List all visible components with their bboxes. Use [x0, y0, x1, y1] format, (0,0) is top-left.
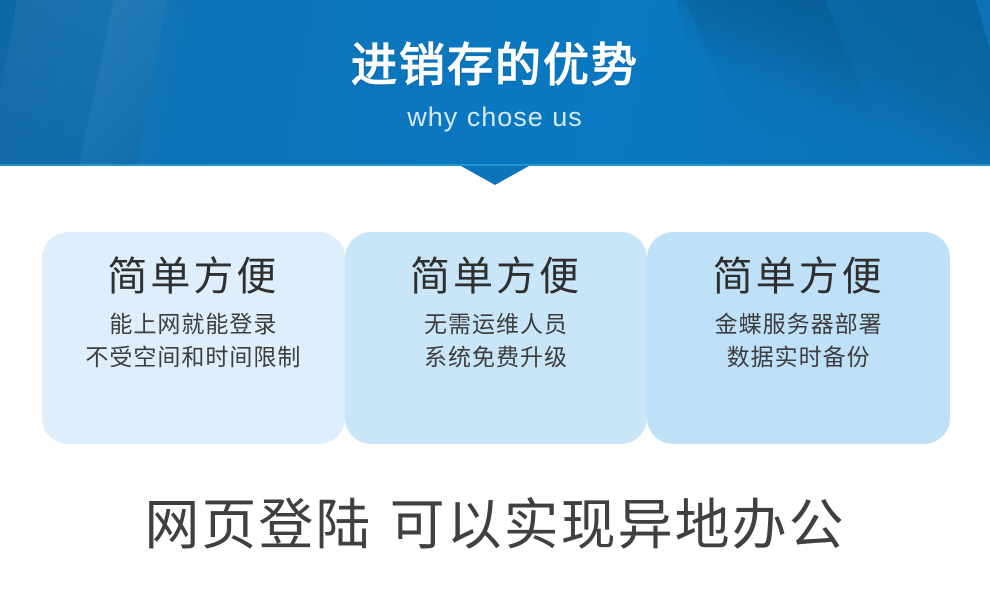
feature-card-2-body: 无需运维人员 系统免费升级 [424, 308, 568, 373]
feature-card-1: 简单方便 能上网就能登录 不受空间和时间限制 [42, 232, 345, 444]
feature-card-3-line2: 数据实时备份 [715, 341, 883, 374]
feature-card-3-title: 简单方便 [713, 254, 885, 300]
feature-card-1-line2: 不受空间和时间限制 [85, 341, 301, 374]
feature-card-2-title: 简单方便 [410, 254, 582, 300]
feature-card-2-line2: 系统免费升级 [424, 341, 568, 374]
feature-card-3-body: 金蝶服务器部署 数据实时备份 [715, 308, 883, 373]
feature-card-3-line1: 金蝶服务器部署 [715, 308, 883, 341]
feature-card-1-body: 能上网就能登录 不受空间和时间限制 [85, 308, 301, 373]
feature-card-1-title: 简单方便 [107, 254, 279, 300]
hero-title: 进销存的优势 [351, 42, 639, 88]
feature-card-3: 简单方便 金蝶服务器部署 数据实时备份 [647, 232, 950, 444]
hero-notch-triangle-icon [461, 166, 529, 185]
feature-card-2-line1: 无需运维人员 [424, 308, 568, 341]
feature-card-1-line1: 能上网就能登录 [85, 308, 301, 341]
footer-headline: 网页登陆 可以实现异地办公 [0, 498, 990, 553]
hero-subtitle: why chose us [407, 104, 583, 131]
feature-card-2: 简单方便 无需运维人员 系统免费升级 [345, 232, 648, 444]
feature-card-row: 简单方便 能上网就能登录 不受空间和时间限制 简单方便 无需运维人员 系统免费升… [42, 232, 950, 444]
hero-banner: 进销存的优势 why chose us [0, 0, 990, 166]
hero-content: 进销存的优势 why chose us [0, 0, 990, 166]
promo-page: 进销存的优势 why chose us 简单方便 能上网就能登录 不受空间和时间… [0, 0, 990, 612]
